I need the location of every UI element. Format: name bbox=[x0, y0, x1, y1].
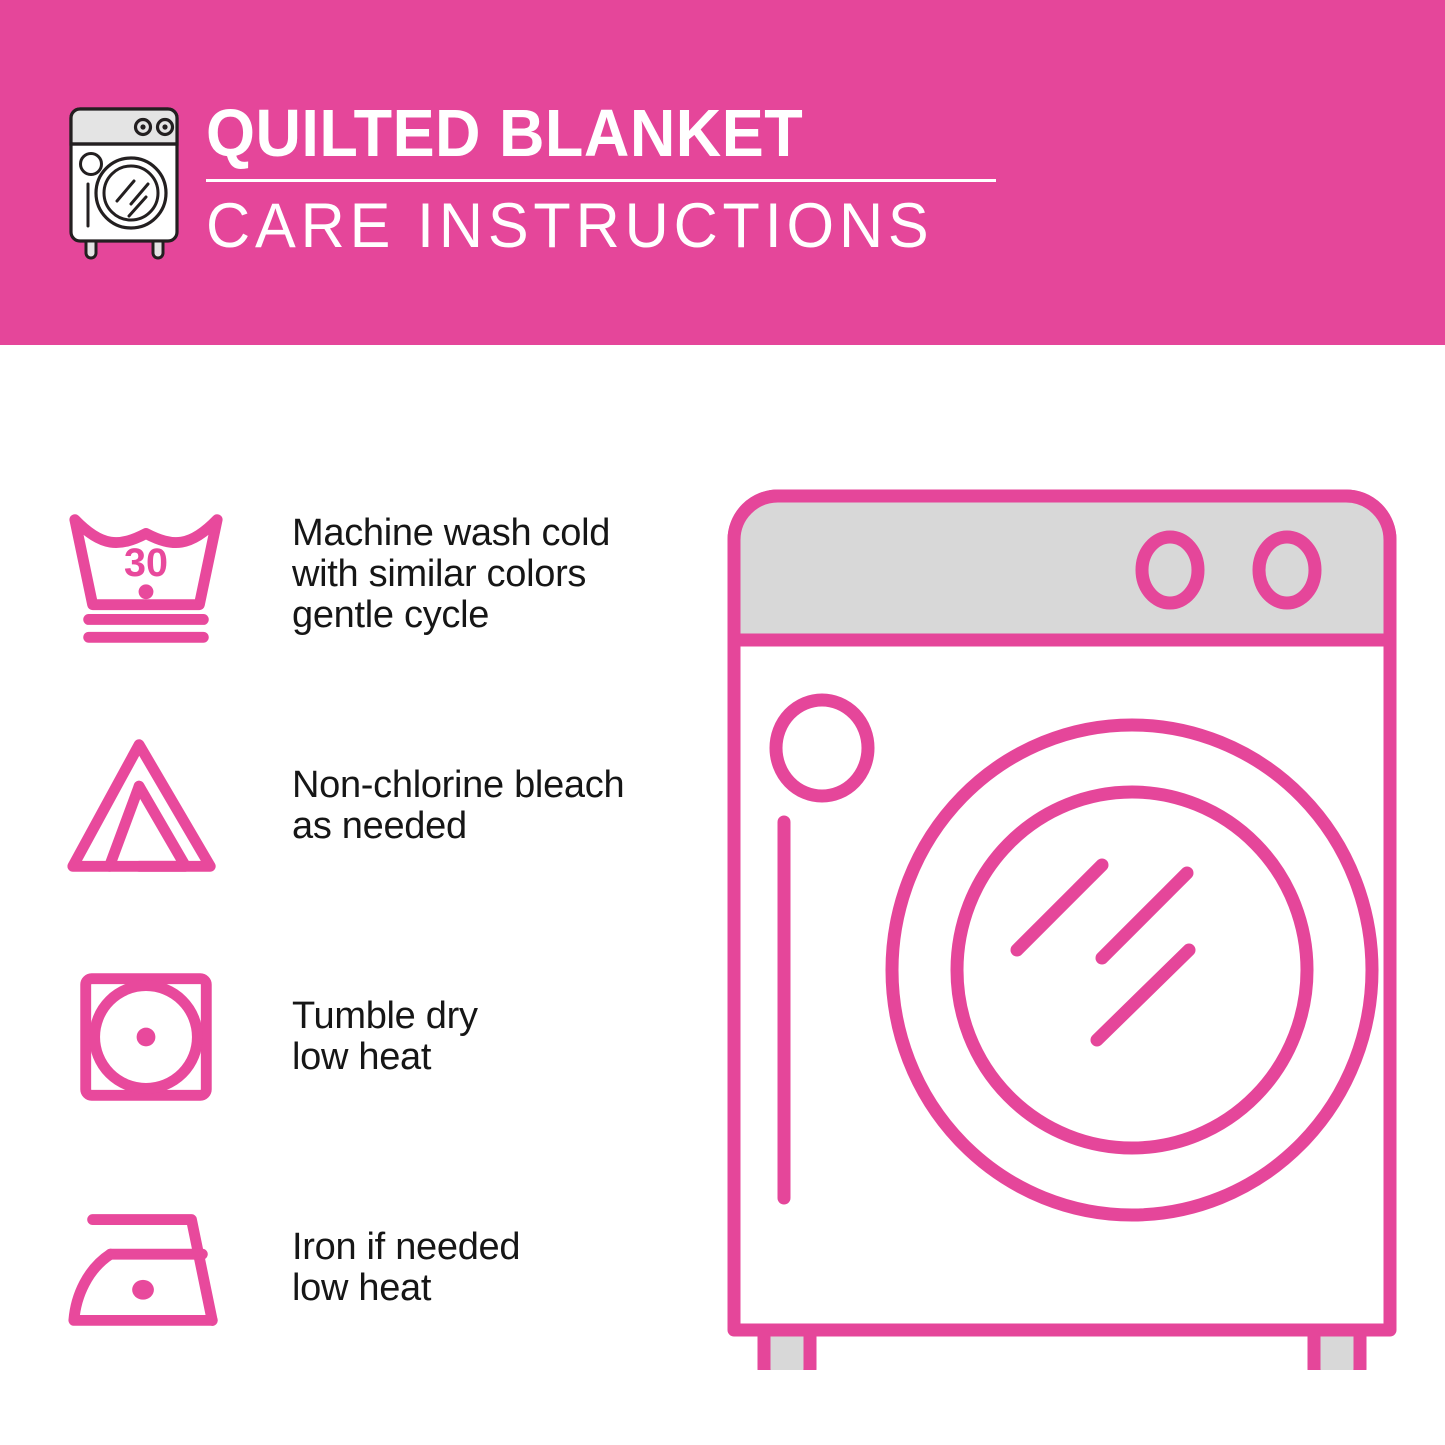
washing-machine-icon bbox=[60, 101, 188, 261]
care-label-bleach: Non-chlorine bleach as needed bbox=[292, 765, 624, 847]
care-instructions-page: QUILTED BLANKET CARE INSTRUCTIONS 30 bbox=[0, 0, 1445, 1445]
header-band: QUILTED BLANKET CARE INSTRUCTIONS bbox=[0, 0, 1445, 345]
care-label-tumble-dry: Tumble dry low heat bbox=[292, 996, 478, 1078]
care-label-iron: Iron if needed low heat bbox=[292, 1227, 520, 1309]
page-title: QUILTED BLANKET bbox=[206, 97, 952, 171]
header-title-block: QUILTED BLANKET CARE INSTRUCTIONS bbox=[206, 95, 1000, 261]
care-label-wash: Machine wash cold with similar colors ge… bbox=[292, 513, 610, 636]
care-row-wash: 30 Machine wash cold with similar colors… bbox=[62, 487, 682, 662]
title-divider bbox=[206, 179, 996, 182]
indicator-circle-icon bbox=[776, 700, 868, 796]
bleach-triangle-icon bbox=[62, 731, 230, 881]
care-row-bleach: Non-chlorine bleach as needed bbox=[62, 718, 682, 893]
leg-left bbox=[764, 1330, 810, 1370]
care-row-tumble-dry: Tumble dry low heat bbox=[62, 949, 682, 1124]
iron-low-heat-icon bbox=[62, 1193, 230, 1343]
wash-tub-30-icon: 30 bbox=[62, 500, 230, 650]
knob-left-icon bbox=[1142, 537, 1198, 603]
leg-right bbox=[1314, 1330, 1360, 1370]
front-load-washing-machine-illustration bbox=[712, 480, 1412, 1370]
knob-right-icon bbox=[1259, 537, 1315, 603]
page-subtitle: CARE INSTRUCTIONS bbox=[206, 191, 976, 261]
wash-temperature-value: 30 bbox=[124, 540, 168, 584]
door-inner-ring bbox=[957, 792, 1307, 1148]
care-instruction-list: 30 Machine wash cold with similar colors… bbox=[62, 487, 682, 1355]
header-content: QUILTED BLANKET CARE INSTRUCTIONS bbox=[60, 95, 1000, 270]
tumble-dry-low-icon bbox=[62, 962, 230, 1112]
care-row-iron: Iron if needed low heat bbox=[62, 1180, 682, 1355]
